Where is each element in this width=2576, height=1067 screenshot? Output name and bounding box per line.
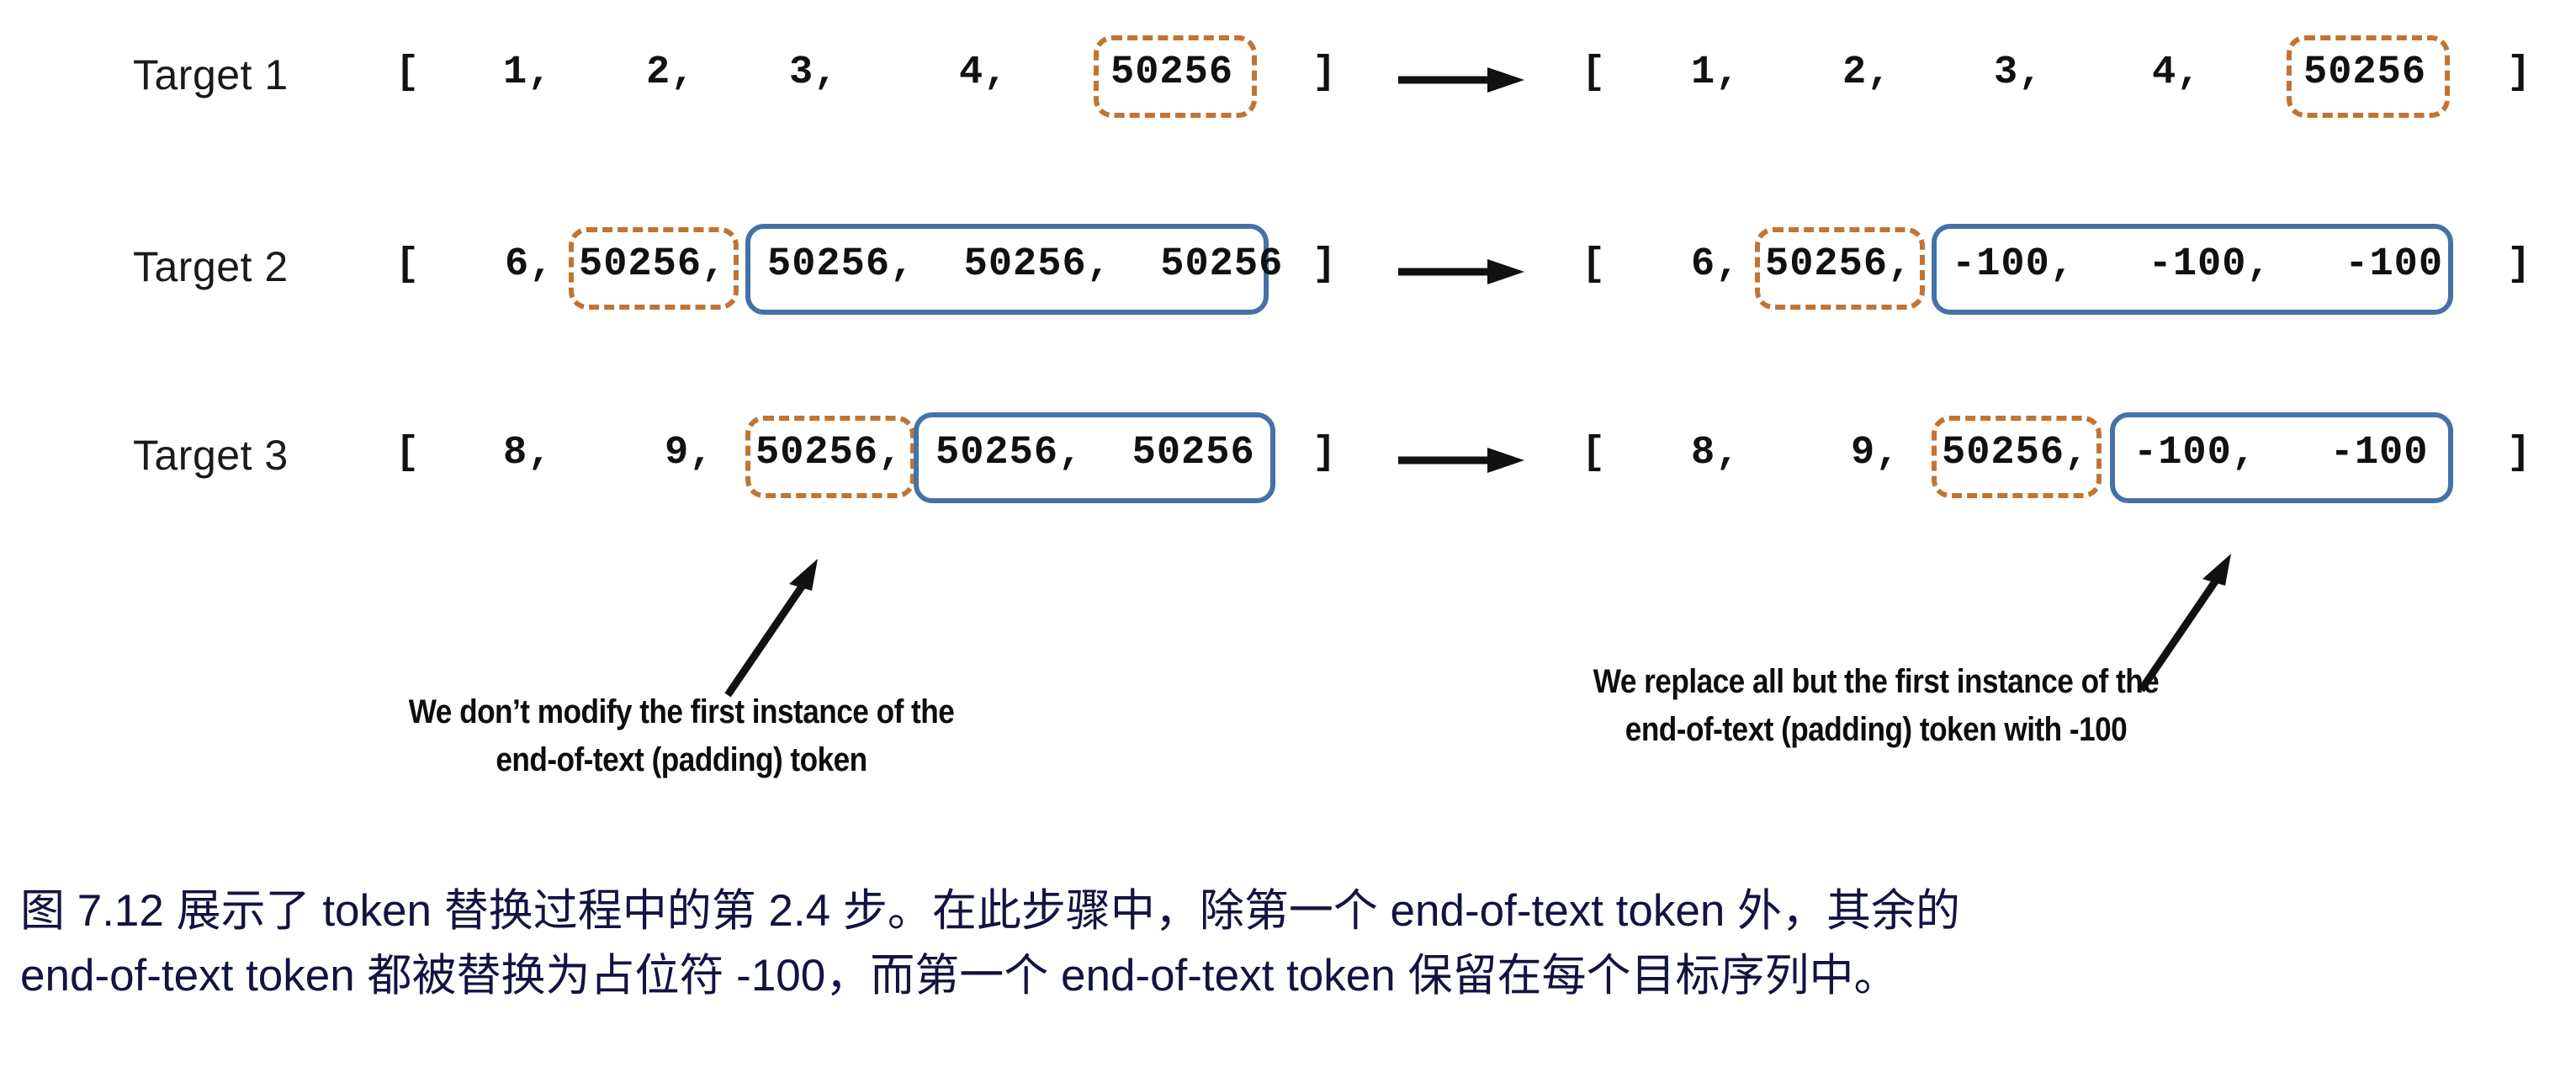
right-close-bracket-row1: ] <box>2507 50 2531 95</box>
right-open-bracket-row3: [ <box>1582 431 1605 475</box>
figure-caption: 图 7.12 展示了 token 替换过程中的第 2.4 步。在此步骤中，除第一… <box>20 879 2552 1009</box>
callout-right: We replace all but the first instance of… <box>1410 658 2343 754</box>
row-label-target-3: Target 3 <box>133 431 289 480</box>
figure-token-replacement-diagram: Target 1 [ 1, 2, 3, 4, 50256 ] [ 1, 2, 3… <box>0 0 2576 850</box>
right-close-bracket-row3: ] <box>2507 431 2531 475</box>
right-token-row3-1: 9, <box>1851 431 1900 475</box>
callout-left: We don’t modify the first instance of th… <box>252 688 1111 784</box>
left-close-bracket-row2: ] <box>1312 242 1336 287</box>
callout-left-line1: We don’t modify the first instance of th… <box>252 688 1111 736</box>
right-dashed-token-row2: 50256, <box>1765 242 1912 287</box>
left-close-bracket-row3: ] <box>1312 431 1336 475</box>
left-token-row1-2: 3, <box>789 50 838 95</box>
row-label-target-1: Target 1 <box>133 50 289 99</box>
row-label-target-2: Target 2 <box>133 242 289 291</box>
right-open-bracket-row2: [ <box>1582 242 1605 287</box>
table-row: Target 1 [ 1, 2, 3, 4, 50256 ] [ 1, 2, 3… <box>0 32 2576 133</box>
right-token-row1-3: 4, <box>2152 50 2201 95</box>
table-row: Target 2 [ 6, 50256, 50256, 50256, 50256… <box>0 224 2576 325</box>
left-dashed-token-row1: 50256 <box>1110 50 1233 95</box>
left-token-row3-0: 8, <box>503 431 552 475</box>
callout-pointer-arrow-left-icon <box>715 544 833 703</box>
right-token-row3-0: 8, <box>1691 431 1740 475</box>
right-dashed-token-row3: 50256, <box>1942 431 2089 475</box>
left-token-row3-1: 9, <box>665 431 713 475</box>
callout-right-line2: end-of-text (padding) token with -100 <box>1410 706 2343 754</box>
caption-line-1: 图 7.12 展示了 token 替换过程中的第 2.4 步。在此步骤中，除第一… <box>20 879 2552 943</box>
left-open-bracket-row3: [ <box>395 431 419 475</box>
right-dashed-token-row1: 50256 <box>2303 50 2426 95</box>
right-token-row1-1: 2, <box>1842 50 1891 95</box>
left-boxed-tokens-row2: 50256, 50256, 50256 <box>767 242 1283 287</box>
right-token-row1-0: 1, <box>1691 50 1740 95</box>
transform-arrow-row3 <box>1398 446 1524 475</box>
left-token-row2-0: 6, <box>505 242 554 287</box>
left-token-row1-1: 2, <box>646 50 695 95</box>
left-token-row1-3: 4, <box>959 50 1008 95</box>
callout-right-line1: We replace all but the first instance of… <box>1410 658 2343 706</box>
left-close-bracket-row1: ] <box>1312 50 1336 95</box>
transform-arrow-row2 <box>1398 257 1524 286</box>
left-boxed-tokens-row3: 50256, 50256 <box>936 431 1255 475</box>
callout-left-line2: end-of-text (padding) token <box>252 736 1111 784</box>
right-close-bracket-row2: ] <box>2507 242 2531 287</box>
table-row: Target 3 [ 8, 9, 50256, 50256, 50256 ] [… <box>0 412 2576 513</box>
caption-line-2: end-of-text token 都被替换为占位符 -100，而第一个 end… <box>20 943 2552 1008</box>
left-dashed-token-row3: 50256, <box>755 431 903 475</box>
transform-arrow-row1 <box>1398 66 1524 94</box>
right-boxed-tokens-row2: -100, -100, -100 <box>1952 242 2443 287</box>
right-token-row2-0: 6, <box>1691 242 1740 287</box>
right-token-row1-2: 3, <box>1994 50 2043 95</box>
right-open-bracket-row1: [ <box>1582 50 1605 95</box>
right-boxed-tokens-row3: -100, -100 <box>2133 431 2428 475</box>
left-open-bracket-row1: [ <box>395 50 419 95</box>
left-open-bracket-row2: [ <box>395 242 419 287</box>
left-dashed-token-row2: 50256, <box>579 242 726 287</box>
left-token-row1-0: 1, <box>503 50 552 95</box>
